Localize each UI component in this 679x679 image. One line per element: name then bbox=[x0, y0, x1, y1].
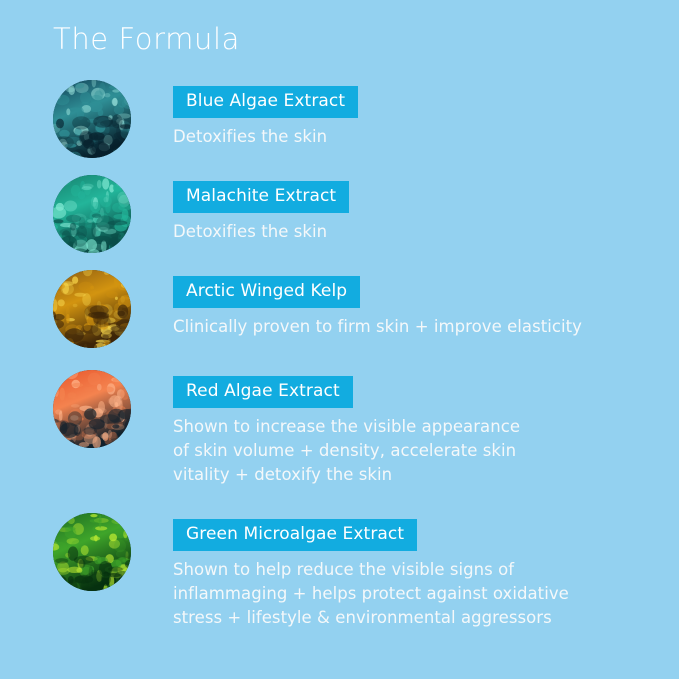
formula-panel: The Formula Blue Algae ExtractDetoxifies… bbox=[0, 0, 679, 679]
ingredient-row: Red Algae ExtractShown to increase the v… bbox=[0, 370, 679, 487]
ingredient-benefit: Shown to help reduce the visible signs o… bbox=[173, 558, 569, 630]
ingredient-row: Malachite ExtractDetoxifies the skin bbox=[0, 175, 679, 253]
ingredient-benefit: Shown to increase the visible appearance… bbox=[173, 415, 520, 487]
green-microalgae-thumbnail bbox=[53, 513, 131, 591]
ingredient-benefit: Detoxifies the skin bbox=[173, 125, 358, 149]
malachite-thumbnail bbox=[53, 175, 131, 253]
ingredient-text: Blue Algae ExtractDetoxifies the skin bbox=[173, 80, 358, 149]
ingredient-name-badge: Red Algae Extract bbox=[173, 376, 353, 408]
ingredient-row: Arctic Winged KelpClinically proven to f… bbox=[0, 270, 679, 348]
ingredient-text: Arctic Winged KelpClinically proven to f… bbox=[173, 270, 582, 339]
ingredient-row: Blue Algae ExtractDetoxifies the skin bbox=[0, 80, 679, 158]
ingredient-text: Red Algae ExtractShown to increase the v… bbox=[173, 370, 520, 487]
ingredient-text: Malachite ExtractDetoxifies the skin bbox=[173, 175, 349, 244]
arctic-winged-kelp-thumbnail bbox=[53, 270, 131, 348]
ingredient-text: Green Microalgae ExtractShown to help re… bbox=[173, 513, 569, 630]
ingredient-name-badge: Malachite Extract bbox=[173, 181, 349, 213]
ingredient-name-badge: Green Microalgae Extract bbox=[173, 519, 417, 551]
ingredient-name-badge: Arctic Winged Kelp bbox=[173, 276, 360, 308]
ingredient-row: Green Microalgae ExtractShown to help re… bbox=[0, 513, 679, 630]
ingredient-benefit: Detoxifies the skin bbox=[173, 220, 349, 244]
red-algae-thumbnail bbox=[53, 370, 131, 448]
page-title: The Formula bbox=[53, 22, 240, 56]
ingredient-name-badge: Blue Algae Extract bbox=[173, 86, 358, 118]
ingredient-benefit: Clinically proven to firm skin + improve… bbox=[173, 315, 582, 339]
ingredient-list: Blue Algae ExtractDetoxifies the skinMal… bbox=[0, 80, 679, 630]
blue-algae-thumbnail bbox=[53, 80, 131, 158]
